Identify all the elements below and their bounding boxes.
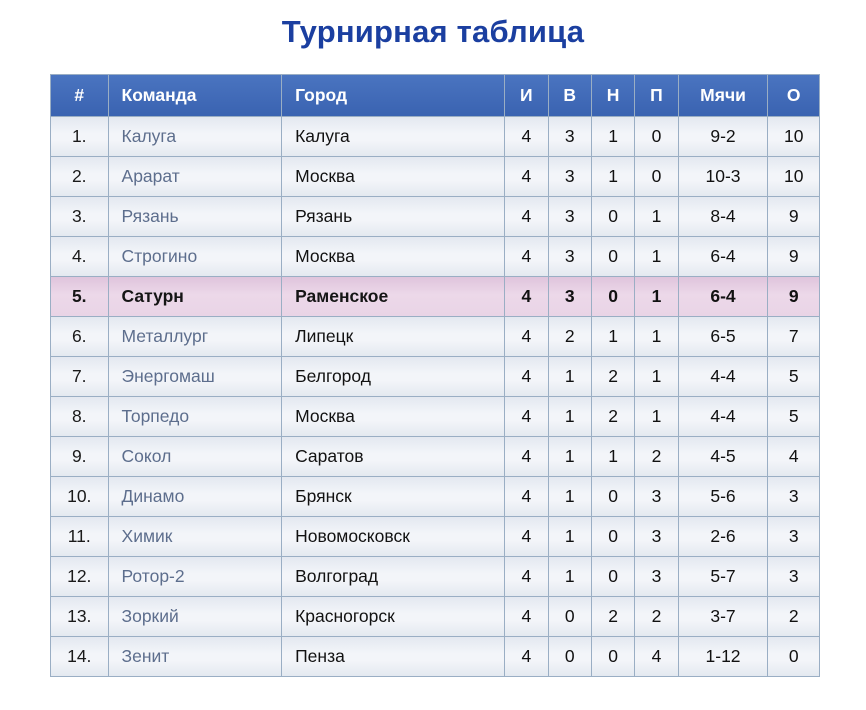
cell-city: Москва [282, 397, 504, 436]
cell-draws: 0 [592, 517, 634, 556]
cell-team: Динамо [109, 477, 282, 516]
standings-table: # Команда Город И В Н П Мячи О 1.КалугаК… [50, 74, 820, 677]
cell-city: Брянск [282, 477, 504, 516]
cell-wins: 1 [549, 437, 591, 476]
cell-rank: 7. [51, 357, 108, 396]
cell-losses: 3 [635, 477, 677, 516]
cell-wins: 0 [549, 637, 591, 676]
cell-draws: 2 [592, 397, 634, 436]
cell-city: Волгоград [282, 557, 504, 596]
cell-draws: 1 [592, 117, 634, 156]
cell-goals: 5-6 [679, 477, 768, 516]
cell-goals: 1-12 [679, 637, 768, 676]
cell-played: 4 [505, 117, 547, 156]
cell-played: 4 [505, 397, 547, 436]
cell-losses: 3 [635, 517, 677, 556]
cell-draws: 0 [592, 237, 634, 276]
cell-points: 3 [768, 477, 819, 516]
cell-rank: 11. [51, 517, 108, 556]
cell-points: 2 [768, 597, 819, 636]
cell-draws: 0 [592, 637, 634, 676]
cell-goals: 4-4 [679, 397, 768, 436]
cell-losses: 1 [635, 357, 677, 396]
column-header-played[interactable]: И [505, 75, 547, 116]
cell-played: 4 [505, 197, 547, 236]
table-row[interactable]: 10.ДинамоБрянск41035-63 [51, 477, 819, 516]
cell-goals: 5-7 [679, 557, 768, 596]
cell-goals: 8-4 [679, 197, 768, 236]
standings-table-body: 1.КалугаКалуга43109-2102.АраратМосква431… [51, 117, 819, 676]
cell-wins: 1 [549, 397, 591, 436]
column-header-rank[interactable]: # [51, 75, 108, 116]
cell-points: 7 [768, 317, 819, 356]
cell-played: 4 [505, 517, 547, 556]
column-header-points[interactable]: О [768, 75, 819, 116]
cell-losses: 2 [635, 437, 677, 476]
cell-played: 4 [505, 237, 547, 276]
cell-city: Рязань [282, 197, 504, 236]
cell-team: Зенит [109, 637, 282, 676]
table-row[interactable]: 2.АраратМосква431010-310 [51, 157, 819, 196]
cell-rank: 8. [51, 397, 108, 436]
cell-losses: 3 [635, 557, 677, 596]
table-row[interactable]: 4.СтрогиноМосква43016-49 [51, 237, 819, 276]
cell-wins: 1 [549, 357, 591, 396]
cell-goals: 4-4 [679, 357, 768, 396]
cell-team: Металлург [109, 317, 282, 356]
cell-goals: 2-6 [679, 517, 768, 556]
cell-rank: 9. [51, 437, 108, 476]
cell-played: 4 [505, 637, 547, 676]
cell-rank: 10. [51, 477, 108, 516]
cell-points: 0 [768, 637, 819, 676]
table-row[interactable]: 6.МеталлургЛипецк42116-57 [51, 317, 819, 356]
cell-played: 4 [505, 157, 547, 196]
table-row[interactable]: 8.ТорпедоМосква41214-45 [51, 397, 819, 436]
page-title: Турнирная таблица [0, 0, 866, 56]
cell-draws: 0 [592, 277, 634, 316]
cell-rank: 12. [51, 557, 108, 596]
standings-table-header: # Команда Город И В Н П Мячи О [51, 75, 819, 116]
cell-goals: 6-4 [679, 277, 768, 316]
cell-wins: 1 [549, 517, 591, 556]
table-row[interactable]: 1.КалугаКалуга43109-210 [51, 117, 819, 156]
cell-wins: 0 [549, 597, 591, 636]
cell-played: 4 [505, 317, 547, 356]
cell-wins: 3 [549, 277, 591, 316]
cell-wins: 3 [549, 197, 591, 236]
cell-played: 4 [505, 557, 547, 596]
header-row: # Команда Город И В Н П Мячи О [51, 75, 819, 116]
cell-rank: 2. [51, 157, 108, 196]
cell-team: Сатурн [109, 277, 282, 316]
cell-team: Строгино [109, 237, 282, 276]
cell-rank: 13. [51, 597, 108, 636]
table-row[interactable]: 9.СоколСаратов41124-54 [51, 437, 819, 476]
cell-city: Белгород [282, 357, 504, 396]
cell-points: 9 [768, 277, 819, 316]
cell-city: Саратов [282, 437, 504, 476]
table-row[interactable]: 11.ХимикНовомосковск41032-63 [51, 517, 819, 556]
cell-wins: 2 [549, 317, 591, 356]
cell-losses: 1 [635, 317, 677, 356]
cell-goals: 6-5 [679, 317, 768, 356]
table-row[interactable]: 13.ЗоркийКрасногорск40223-72 [51, 597, 819, 636]
cell-points: 9 [768, 197, 819, 236]
cell-draws: 2 [592, 357, 634, 396]
cell-team: Калуга [109, 117, 282, 156]
cell-city: Новомосковск [282, 517, 504, 556]
cell-team: Зоркий [109, 597, 282, 636]
cell-points: 10 [768, 117, 819, 156]
cell-wins: 3 [549, 117, 591, 156]
cell-goals: 10-3 [679, 157, 768, 196]
cell-losses: 4 [635, 637, 677, 676]
cell-losses: 1 [635, 197, 677, 236]
cell-goals: 3-7 [679, 597, 768, 636]
cell-points: 3 [768, 517, 819, 556]
cell-city: Пенза [282, 637, 504, 676]
cell-losses: 0 [635, 157, 677, 196]
table-row[interactable]: 3.РязаньРязань43018-49 [51, 197, 819, 236]
table-row[interactable]: 14.ЗенитПенза40041-120 [51, 637, 819, 676]
cell-points: 9 [768, 237, 819, 276]
column-header-wins[interactable]: В [549, 75, 591, 116]
cell-wins: 1 [549, 477, 591, 516]
cell-rank: 1. [51, 117, 108, 156]
cell-city: Липецк [282, 317, 504, 356]
column-header-losses[interactable]: П [635, 75, 677, 116]
cell-draws: 2 [592, 597, 634, 636]
cell-wins: 1 [549, 557, 591, 596]
cell-played: 4 [505, 357, 547, 396]
cell-draws: 0 [592, 557, 634, 596]
cell-team: Рязань [109, 197, 282, 236]
cell-points: 3 [768, 557, 819, 596]
table-row[interactable]: 5.СатурнРаменское43016-49 [51, 277, 819, 316]
cell-goals: 4-5 [679, 437, 768, 476]
cell-goals: 6-4 [679, 237, 768, 276]
cell-rank: 5. [51, 277, 108, 316]
cell-draws: 0 [592, 197, 634, 236]
cell-draws: 1 [592, 437, 634, 476]
standings-table-container: # Команда Город И В Н П Мячи О 1.КалугаК… [50, 74, 820, 677]
cell-losses: 0 [635, 117, 677, 156]
column-header-goals[interactable]: Мячи [679, 75, 768, 116]
column-header-draws[interactable]: Н [592, 75, 634, 116]
cell-team: Химик [109, 517, 282, 556]
cell-team: Сокол [109, 437, 282, 476]
cell-points: 5 [768, 357, 819, 396]
cell-points: 5 [768, 397, 819, 436]
cell-rank: 14. [51, 637, 108, 676]
table-row[interactable]: 7.ЭнергомашБелгород41214-45 [51, 357, 819, 396]
cell-rank: 3. [51, 197, 108, 236]
cell-losses: 1 [635, 237, 677, 276]
cell-team: Ротор-2 [109, 557, 282, 596]
cell-goals: 9-2 [679, 117, 768, 156]
cell-played: 4 [505, 597, 547, 636]
cell-team: Арарат [109, 157, 282, 196]
cell-points: 4 [768, 437, 819, 476]
cell-city: Раменское [282, 277, 504, 316]
table-row[interactable]: 12.Ротор-2Волгоград41035-73 [51, 557, 819, 596]
cell-points: 10 [768, 157, 819, 196]
cell-losses: 1 [635, 397, 677, 436]
column-header-team[interactable]: Команда [109, 75, 282, 116]
cell-draws: 1 [592, 317, 634, 356]
cell-city: Москва [282, 157, 504, 196]
cell-played: 4 [505, 437, 547, 476]
cell-wins: 3 [549, 157, 591, 196]
cell-draws: 0 [592, 477, 634, 516]
column-header-city[interactable]: Город [282, 75, 504, 116]
cell-team: Торпедо [109, 397, 282, 436]
cell-draws: 1 [592, 157, 634, 196]
cell-wins: 3 [549, 237, 591, 276]
cell-city: Калуга [282, 117, 504, 156]
cell-city: Москва [282, 237, 504, 276]
cell-rank: 6. [51, 317, 108, 356]
cell-played: 4 [505, 477, 547, 516]
cell-losses: 2 [635, 597, 677, 636]
cell-losses: 1 [635, 277, 677, 316]
cell-city: Красногорск [282, 597, 504, 636]
cell-played: 4 [505, 277, 547, 316]
cell-rank: 4. [51, 237, 108, 276]
cell-team: Энергомаш [109, 357, 282, 396]
